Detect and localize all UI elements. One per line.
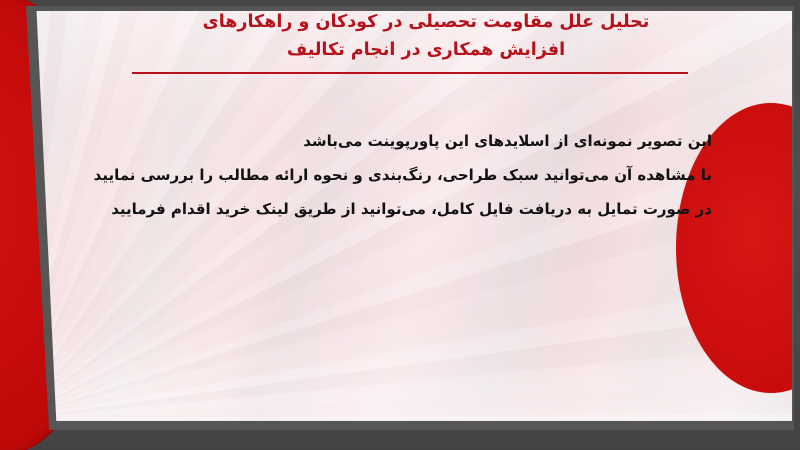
slide-title-line-1: تحلیل علل مقاومت تحصیلی در کودکان و راهک… [140,8,712,36]
presentation-slide: تحلیل علل مقاومت تحصیلی در کودکان و راهک… [0,0,800,450]
title-underline [132,72,688,74]
slide-body-line-3: در صورت تمایل به دریافت فایل کامل، می‌تو… [150,192,712,226]
slide-title: تحلیل علل مقاومت تحصیلی در کودکان و راهک… [140,8,712,64]
slide-body-line-2: با مشاهده آن می‌توانید سبک طراحی، رنگ‌بن… [150,158,712,192]
slide-title-line-2: افزایش همکاری در انجام تکالیف [140,36,712,64]
slide-body-line-1: این تصویر نمونه‌ای از اسلایدهای این پاور… [150,124,712,158]
slide-body: این تصویر نمونه‌ای از اسلایدهای این پاور… [150,124,712,226]
